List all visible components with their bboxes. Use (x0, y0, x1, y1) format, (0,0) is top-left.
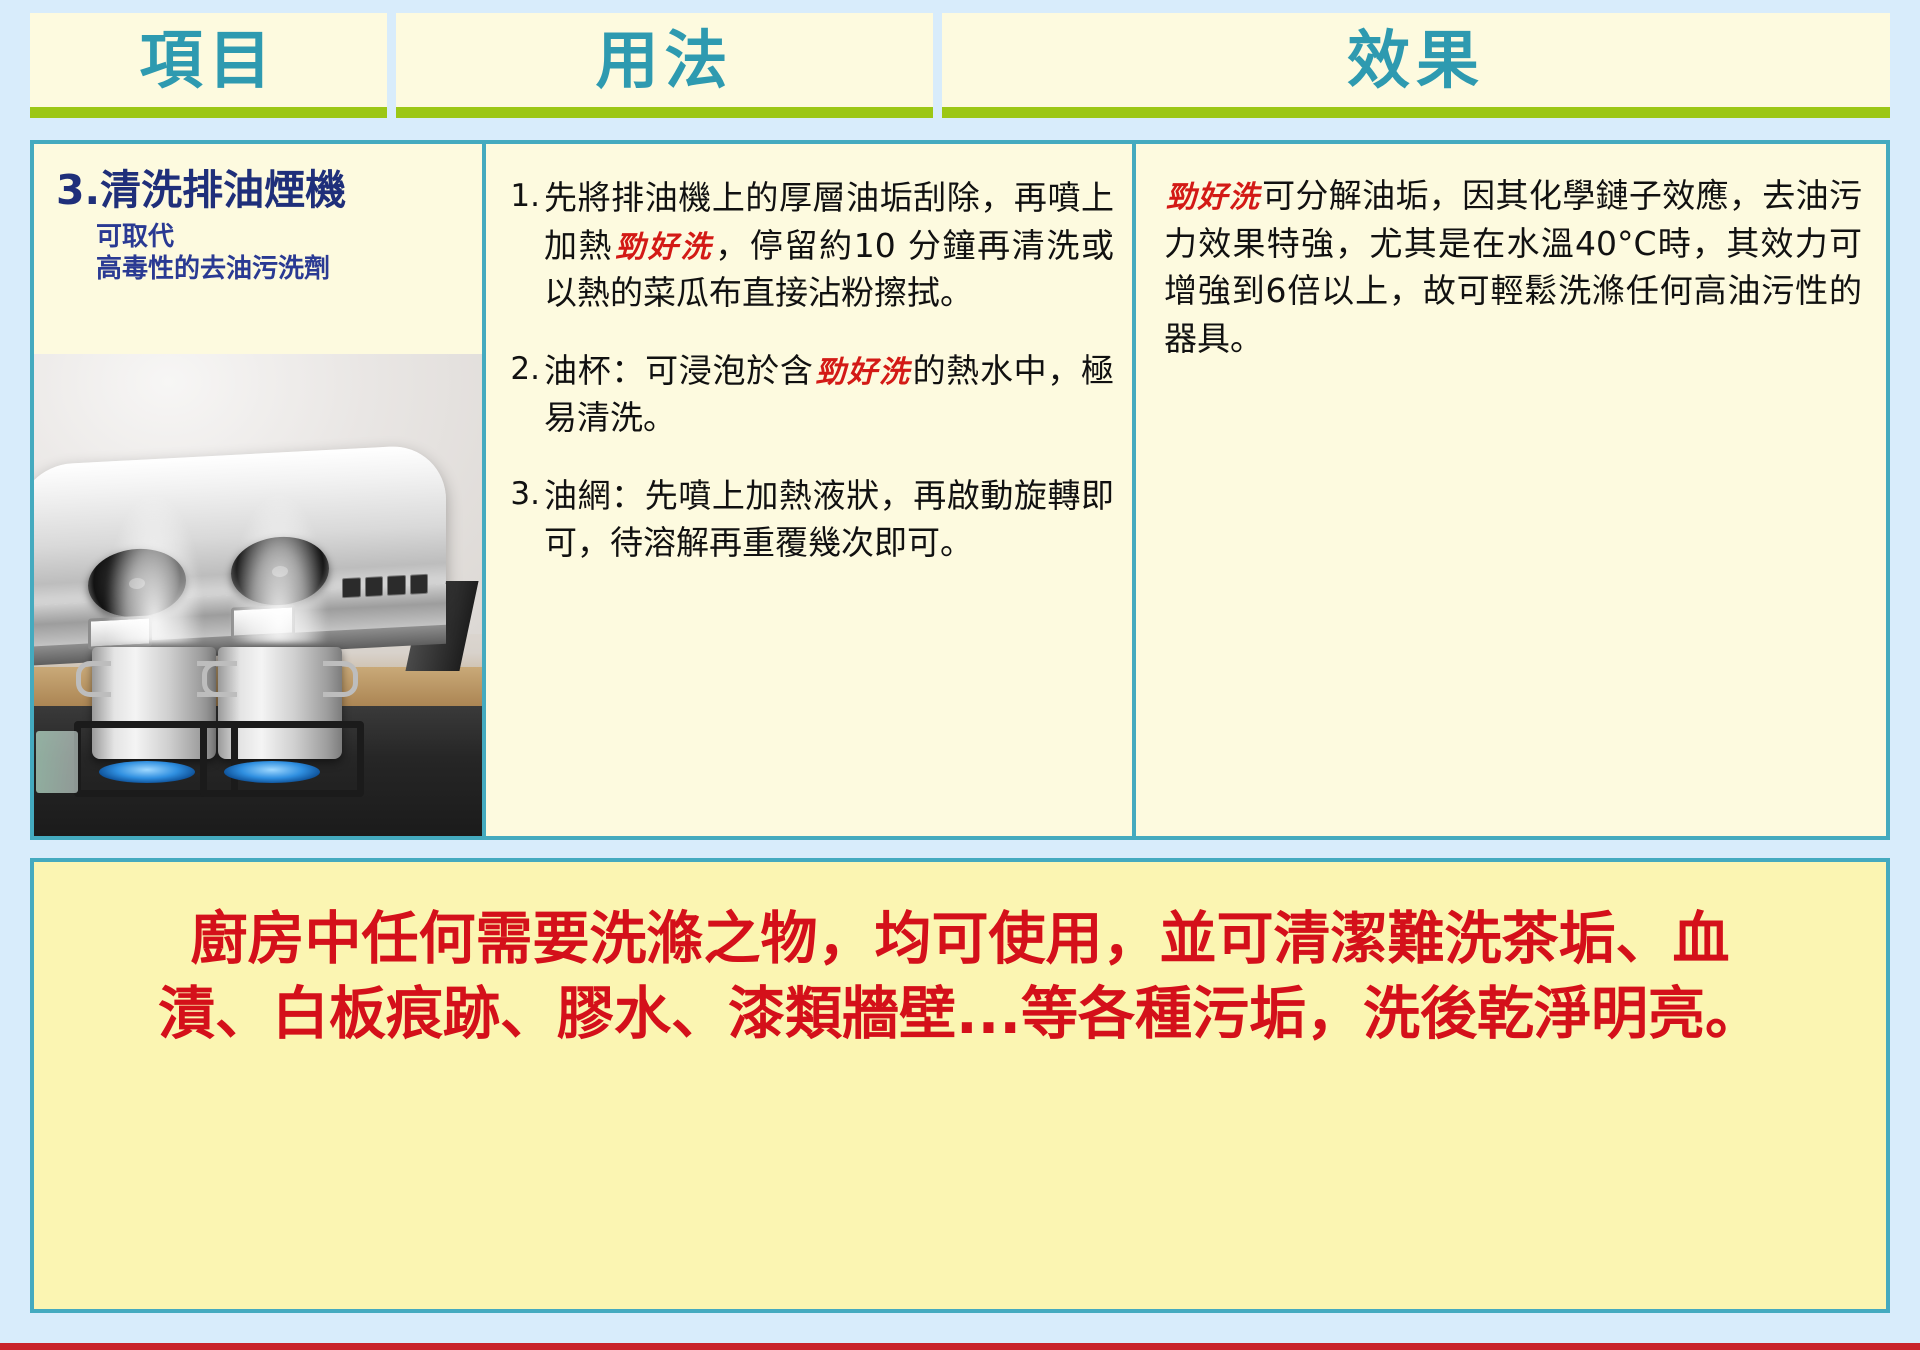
header-label-usage: 用法 (596, 29, 734, 92)
header-label-effect: 效果 (1347, 29, 1485, 92)
text-run-0: 油網：先噴上加熱液狀，再啟動旋轉即可，待溶解再重覆幾次即可。 (544, 476, 1114, 563)
gas-flame-right (224, 761, 320, 783)
column-item: 3.清洗排油煙機 可取代 高毒性的去油污洗劑 (34, 144, 486, 836)
brand-name-text: 勁好洗 (613, 230, 715, 265)
slide-page: 項目 用法 效果 3.清洗排油煙機 可取代 高毒性的去油污洗劑 (0, 0, 1920, 1350)
summary-banner: 廚房中任何需要洗滌之物，均可使用，並可清潔難洗茶垢、血 漬、白板痕跡、膠水、漆類… (30, 858, 1890, 1313)
gas-flame-left (99, 761, 195, 783)
item-subtitle-line1: 可取代 (96, 222, 482, 254)
table-body-row: 3.清洗排油煙機 可取代 高毒性的去油污洗劑 (30, 140, 1890, 840)
summary-line-2: 漬、白板痕跡、膠水、漆類牆壁...等各種污垢，洗後乾淨明亮。 (64, 977, 1856, 1052)
steam-right (231, 493, 327, 643)
header-label-item: 項目 (140, 29, 278, 92)
text-run-1: 可分解油垢，因其化學鏈子效應，去油污力效果特強，尤其是在水溫40°C時，其效力可… (1164, 176, 1862, 358)
usage-step: 油杯：可浸泡於含勁好洗的熱水中，極易清洗。 (544, 347, 1114, 442)
item-title: 3.清洗排油煙機 (56, 169, 482, 212)
header-cell-usage: 用法 (396, 13, 933, 118)
header-cell-effect: 效果 (942, 13, 1890, 118)
column-usage: 先將排油機上的厚層油垢刮除，再噴上加熱勁好洗，停留約10 分鐘再清洗或以熱的菜瓜… (486, 144, 1136, 836)
header-cell-item: 項目 (30, 13, 387, 118)
summary-banner-text: 廚房中任何需要洗滌之物，均可使用，並可清潔難洗茶垢、血 漬、白板痕跡、膠水、漆類… (64, 902, 1856, 1052)
steam-left (106, 493, 202, 643)
effect-paragraph: 勁好洗可分解油垢，因其化學鏈子效應，去油污力效果特強，尤其是在水溫40°C時，其… (1164, 172, 1862, 362)
item-subtitle: 可取代 高毒性的去油污洗劑 (96, 222, 482, 285)
glass-jar (36, 731, 78, 793)
brand-name-text: 勁好洗 (1164, 180, 1262, 215)
hood-control-panel (342, 573, 428, 598)
burner-grate-right (200, 721, 364, 797)
column-effect: 勁好洗可分解油垢，因其化學鏈子效應，去油污力效果特強，尤其是在水溫40°C時，其… (1136, 144, 1886, 836)
text-run-0: 油杯：可浸泡於含 (544, 351, 814, 390)
table-header-row: 項目 用法 效果 (30, 13, 1890, 118)
range-hood-photo (34, 354, 482, 836)
item-subtitle-line2: 高毒性的去油污洗劑 (96, 254, 482, 286)
usage-step-list: 先將排油機上的厚層油垢刮除，再噴上加熱勁好洗，停留約10 分鐘再清洗或以熱的菜瓜… (496, 174, 1114, 567)
summary-line-1: 廚房中任何需要洗滌之物，均可使用，並可清潔難洗茶垢、血 (64, 902, 1856, 977)
usage-step: 先將排油機上的厚層油垢刮除，再噴上加熱勁好洗，停留約10 分鐘再清洗或以熱的菜瓜… (544, 174, 1114, 317)
usage-step: 油網：先噴上加熱液狀，再啟動旋轉即可，待溶解再重覆幾次即可。 (544, 472, 1114, 567)
brand-name-text: 勁好洗 (814, 355, 913, 390)
